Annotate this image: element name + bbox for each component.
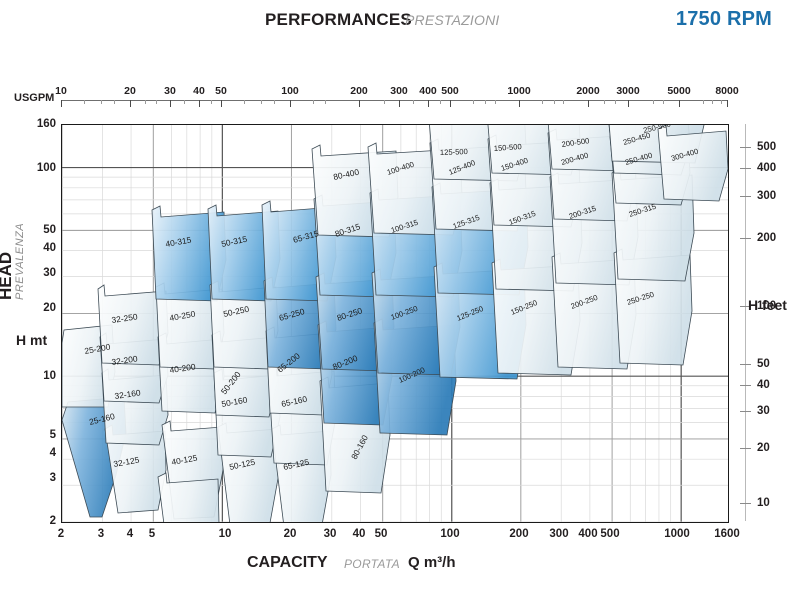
usgpm-tick-label: 50 (215, 85, 227, 97)
pump-envelope-group: 25-16025-20032-12532-16032-20032-25040-1… (62, 125, 728, 522)
hfeet-tick-label: 20 (757, 442, 770, 454)
capacity-tick-label: 1000 (664, 528, 690, 540)
head-tick-label: 4 (20, 447, 56, 459)
hfeet-tick-label: 40 (757, 379, 770, 391)
usgpm-tick-label: 8000 (715, 85, 738, 97)
head-tick-label: 5 (20, 429, 56, 441)
usgpm-minor-tick (145, 100, 146, 104)
hfeet-tick-label: 200 (757, 232, 776, 244)
usgpm-tick-label: 400 (419, 85, 437, 97)
page-title: PERFORMANCES (265, 10, 412, 30)
usgpm-minor-tick (703, 100, 704, 104)
usgpm-tick (519, 100, 520, 107)
capacity-tick-label: 1600 (714, 528, 740, 540)
usgpm-tick-label: 2000 (576, 85, 599, 97)
usgpm-tick (679, 100, 680, 107)
usgpm-minor-tick (721, 100, 722, 104)
usgpm-tick (359, 100, 360, 107)
usgpm-minor-tick (156, 100, 157, 104)
hfeet-tick-label: 50 (757, 358, 770, 370)
head-tick-label: 100 (20, 162, 56, 174)
capacity-tick-label: 500 (600, 528, 619, 540)
usgpm-tick-label: 5000 (667, 85, 690, 97)
usgpm-minor-tick (211, 100, 212, 104)
usgpm-tick-label: 3000 (616, 85, 639, 97)
head-tick-label: 20 (20, 302, 56, 314)
usgpm-tick (428, 100, 429, 107)
usgpm-minor-tick (184, 100, 185, 104)
pump-performance-chart: PERFORMANCES PRESTAZIONI 1750 RPM USGPM … (0, 0, 800, 589)
usgpm-tick-label: 500 (441, 85, 459, 97)
capacity-tick-label: 400 (578, 528, 597, 540)
hfeet-tick (740, 196, 751, 197)
usgpm-tick-label: 100 (281, 85, 299, 97)
hfeet-tick (740, 147, 751, 148)
hfeet-axis-line (745, 124, 746, 521)
usgpm-minor-tick (542, 100, 543, 104)
usgpm-minor-tick (413, 100, 414, 104)
usgpm-tick-label: 1000 (507, 85, 530, 97)
usgpm-minor-tick (114, 100, 115, 104)
head-tick-label: 10 (20, 370, 56, 382)
hfeet-tick (740, 238, 751, 239)
usgpm-minor-tick (244, 100, 245, 104)
capacity-axis-title: CAPACITY (247, 554, 328, 572)
hfeet-tick (740, 168, 751, 169)
plot-area: ABB assets 25-16025-20032-12532- (61, 124, 729, 523)
head-tick-label: 3 (20, 472, 56, 484)
usgpm-minor-tick (604, 100, 605, 104)
pump-envelope-300-400[interactable] (658, 125, 728, 201)
usgpm-tick (61, 100, 62, 107)
head-tick-label: 2 (20, 515, 56, 527)
capacity-tick-label: 200 (509, 528, 528, 540)
usgpm-minor-tick (313, 100, 314, 104)
rpm-badge: 1750 RPM (676, 8, 772, 31)
hfeet-tick-label: 30 (757, 405, 770, 417)
page-subtitle-italian: PRESTAZIONI (405, 12, 500, 28)
usgpm-tick (170, 100, 171, 107)
usgpm-tick-label: 200 (350, 85, 368, 97)
capacity-tick-label: 20 (284, 528, 297, 540)
usgpm-minor-tick (84, 100, 85, 104)
head-tick-label: 160 (20, 118, 56, 130)
head-axis-unit: H mt (16, 332, 47, 348)
usgpm-minor-tick (663, 100, 664, 104)
usgpm-minor-tick (274, 100, 275, 104)
hfeet-tick (740, 411, 751, 412)
hfeet-tick (740, 364, 751, 365)
hfeet-axis-unit: H feet (748, 297, 787, 313)
hfeet-tick (740, 385, 751, 386)
usgpm-minor-tick (384, 100, 385, 104)
pump-model-label: 125-500 (440, 147, 468, 157)
usgpm-tick (588, 100, 589, 107)
usgpm-tick (628, 100, 629, 107)
usgpm-minor-tick (495, 100, 496, 104)
hfeet-tick (740, 448, 751, 449)
hfeet-tick (740, 503, 751, 504)
usgpm-tick (399, 100, 400, 107)
capacity-axis-unit: Q m³/h (408, 554, 456, 571)
capacity-tick-label: 100 (440, 528, 459, 540)
hfeet-tick-label: 300 (757, 190, 776, 202)
hfeet-tick-label: 500 (757, 141, 776, 153)
usgpm-tick-label: 300 (390, 85, 408, 97)
usgpm-axis-label: USGPM (14, 92, 54, 104)
usgpm-minor-tick (485, 100, 486, 104)
hfeet-tick-label: 400 (757, 162, 776, 174)
capacity-tick-label: 30 (324, 528, 337, 540)
head-axis-title-italian: PREVALENZA (14, 223, 26, 300)
capacity-axis-title-italian: PORTATA (344, 557, 400, 571)
usgpm-tick (727, 100, 728, 107)
capacity-tick-label: 10 (219, 528, 232, 540)
capacity-tick-label: 40 (353, 528, 366, 540)
usgpm-tick-label: 30 (164, 85, 176, 97)
usgpm-tick-label: 10 (55, 85, 67, 97)
usgpm-tick (130, 100, 131, 107)
capacity-tick-label: 50 (375, 528, 388, 540)
capacity-tick-label: 5 (149, 528, 155, 540)
usgpm-minor-tick (563, 100, 564, 104)
usgpm-minor-tick (325, 100, 326, 104)
usgpm-tick (290, 100, 291, 107)
hfeet-tick-label: 10 (757, 497, 770, 509)
usgpm-minor-tick (101, 100, 102, 104)
capacity-tick-label: 3 (98, 528, 104, 540)
usgpm-minor-tick (653, 100, 654, 104)
usgpm-minor-tick (712, 100, 713, 104)
capacity-tick-label: 4 (127, 528, 133, 540)
capacity-tick-label: 300 (549, 528, 568, 540)
usgpm-minor-tick (473, 100, 474, 104)
usgpm-tick (450, 100, 451, 107)
usgpm-minor-tick (261, 100, 262, 104)
usgpm-minor-tick (615, 100, 616, 104)
capacity-tick-label: 2 (58, 528, 64, 540)
usgpm-tick-label: 20 (124, 85, 136, 97)
usgpm-tick-label: 40 (193, 85, 205, 97)
usgpm-tick (199, 100, 200, 107)
usgpm-tick (221, 100, 222, 107)
usgpm-minor-tick (440, 100, 441, 104)
usgpm-minor-tick (554, 100, 555, 104)
